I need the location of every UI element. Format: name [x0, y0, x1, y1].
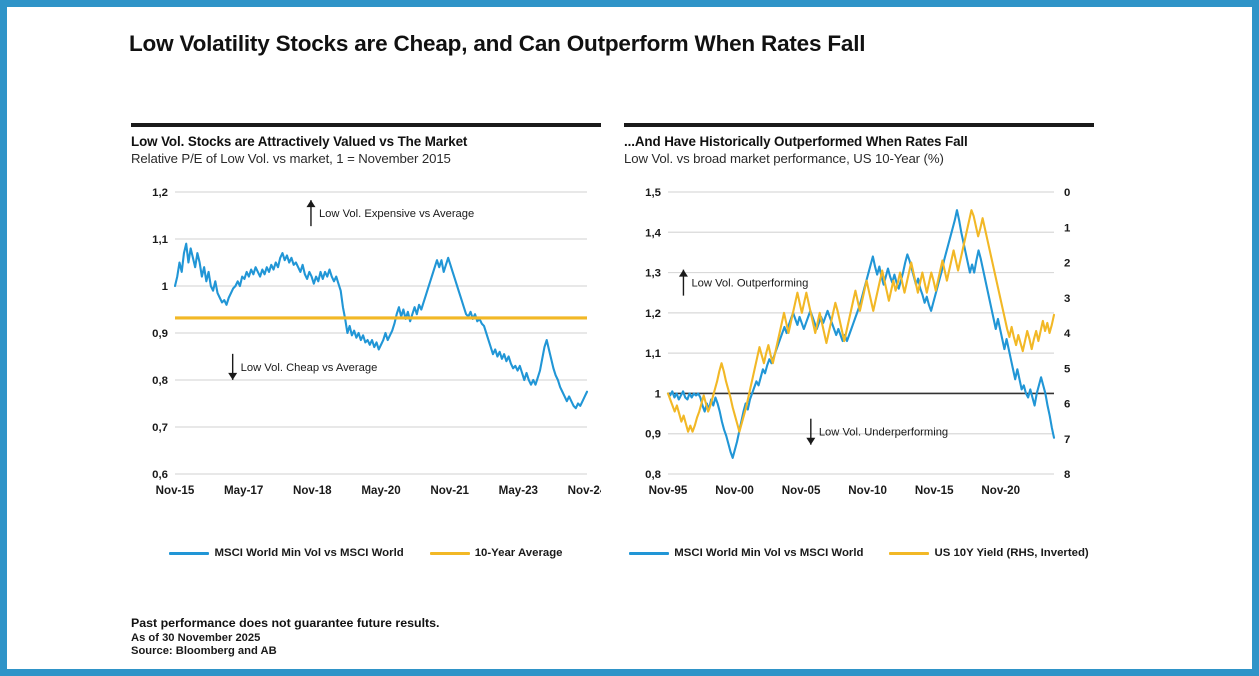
y-axis-tick-label: 1,2: [152, 187, 168, 199]
x-axis-tick-label: Nov-18: [293, 484, 332, 497]
y-axis-tick-label: 1,4: [645, 227, 661, 239]
x-axis-tick-label: May-17: [224, 484, 263, 497]
legend-item[interactable]: US 10Y Yield (RHS, Inverted): [889, 547, 1088, 559]
y-axis-tick-label: 1,2: [645, 308, 661, 320]
slide-canvas: Low Volatility Stocks are Cheap, and Can…: [7, 7, 1252, 669]
y2-axis-tick-label: 2: [1064, 258, 1070, 270]
legend-swatch-icon: [169, 552, 209, 555]
chart-subtitle-left: Relative P/E of Low Vol. vs market, 1 = …: [131, 151, 601, 166]
legend-label: MSCI World Min Vol vs MSCI World: [674, 547, 863, 559]
x-axis-tick-label: Nov-15: [915, 484, 954, 497]
x-axis-tick-label: Nov-95: [649, 484, 688, 497]
y-axis-tick-label: 1,5: [645, 187, 661, 199]
chart-svg-right: 0,80,911,11,21,31,41,5012345678Nov-95Nov…: [624, 178, 1094, 518]
y2-axis-tick-label: 5: [1064, 363, 1071, 375]
footnote-block: Past performance does not guarantee futu…: [131, 616, 731, 657]
legend-swatch-icon: [430, 552, 470, 555]
y2-axis-tick-label: 8: [1064, 469, 1070, 481]
chart-legend-right: MSCI World Min Vol vs MSCI WorldUS 10Y Y…: [624, 547, 1094, 559]
y-axis-tick-label: 0,9: [152, 328, 168, 340]
chart-annotation: Low Vol. Cheap vs Average: [241, 362, 378, 374]
panel-rule-left: [131, 123, 601, 127]
y2-axis-tick-label: 3: [1064, 293, 1070, 305]
y2-axis-tick-label: 0: [1064, 187, 1070, 199]
x-axis-tick-label: Nov-15: [156, 484, 195, 497]
series-line: [668, 210, 1054, 458]
legend-item[interactable]: 10-Year Average: [430, 547, 563, 559]
x-axis-tick-label: Nov-24: [568, 484, 601, 497]
chart-annotation: Low Vol. Underperforming: [819, 427, 948, 439]
chart-title-left: Low Vol. Stocks are Attractively Valued …: [131, 134, 601, 149]
footnote-asof: As of 30 November 2025: [131, 632, 731, 644]
footnote-source: Source: Bloomberg and AB: [131, 645, 731, 657]
chart-annotation: Low Vol. Expensive vs Average: [319, 208, 474, 220]
y-axis-tick-label: 0,8: [152, 375, 168, 387]
y-axis-tick-label: 1,1: [645, 348, 661, 360]
chart-panel-right: ...And Have Historically Outperformed Wh…: [624, 123, 1094, 593]
y-axis-tick-label: 0,9: [645, 429, 661, 441]
legend-item[interactable]: MSCI World Min Vol vs MSCI World: [169, 547, 403, 559]
y2-axis-tick-label: 1: [1064, 222, 1071, 234]
chart-legend-left: MSCI World Min Vol vs MSCI World10-Year …: [131, 547, 601, 559]
chart-panel-left: Low Vol. Stocks are Attractively Valued …: [131, 123, 601, 593]
legend-label: US 10Y Yield (RHS, Inverted): [934, 547, 1088, 559]
y2-axis-tick-label: 4: [1064, 328, 1071, 340]
y2-axis-tick-label: 6: [1064, 399, 1070, 411]
x-axis-tick-label: Nov-00: [715, 484, 754, 497]
y-axis-tick-label: 1,3: [645, 268, 661, 280]
chart-subtitle-right: Low Vol. vs broad market performance, US…: [624, 151, 1094, 166]
y-axis-tick-label: 0,8: [645, 469, 661, 481]
x-axis-tick-label: Nov-05: [782, 484, 821, 497]
legend-swatch-icon: [629, 552, 669, 555]
x-axis-tick-label: May-23: [499, 484, 539, 497]
slide-root: Low Volatility Stocks are Cheap, and Can…: [0, 0, 1259, 676]
chart-title-right: ...And Have Historically Outperformed Wh…: [624, 134, 1094, 149]
chart-svg-left: 0,60,70,80,911,11,2Nov-15May-17Nov-18May…: [131, 178, 601, 518]
page-title: Low Volatility Stocks are Cheap, and Can…: [129, 31, 1129, 57]
x-axis-tick-label: Nov-10: [848, 484, 887, 497]
panel-rule-right: [624, 123, 1094, 127]
y-axis-tick-label: 1: [162, 281, 169, 293]
legend-label: 10-Year Average: [475, 547, 563, 559]
x-axis-tick-label: Nov-21: [430, 484, 469, 497]
y2-axis-tick-label: 7: [1064, 434, 1070, 446]
series-line: [175, 244, 587, 409]
series-line: [668, 210, 1054, 432]
chart-annotation: Low Vol. Outperforming: [691, 278, 808, 290]
y-axis-tick-label: 1,1: [152, 234, 168, 246]
y-axis-tick-label: 0,6: [152, 469, 168, 481]
y-axis-tick-label: 1: [655, 388, 662, 400]
legend-item[interactable]: MSCI World Min Vol vs MSCI World: [629, 547, 863, 559]
plot-area-left: 0,60,70,80,911,11,2Nov-15May-17Nov-18May…: [131, 178, 601, 518]
x-axis-tick-label: Nov-20: [981, 484, 1020, 497]
y-axis-tick-label: 0,7: [152, 422, 168, 434]
x-axis-tick-label: May-20: [361, 484, 400, 497]
legend-swatch-icon: [889, 552, 929, 555]
plot-area-right: 0,80,911,11,21,31,41,5012345678Nov-95Nov…: [624, 178, 1094, 518]
footnote-disclaimer: Past performance does not guarantee futu…: [131, 616, 731, 630]
legend-label: MSCI World Min Vol vs MSCI World: [214, 547, 403, 559]
